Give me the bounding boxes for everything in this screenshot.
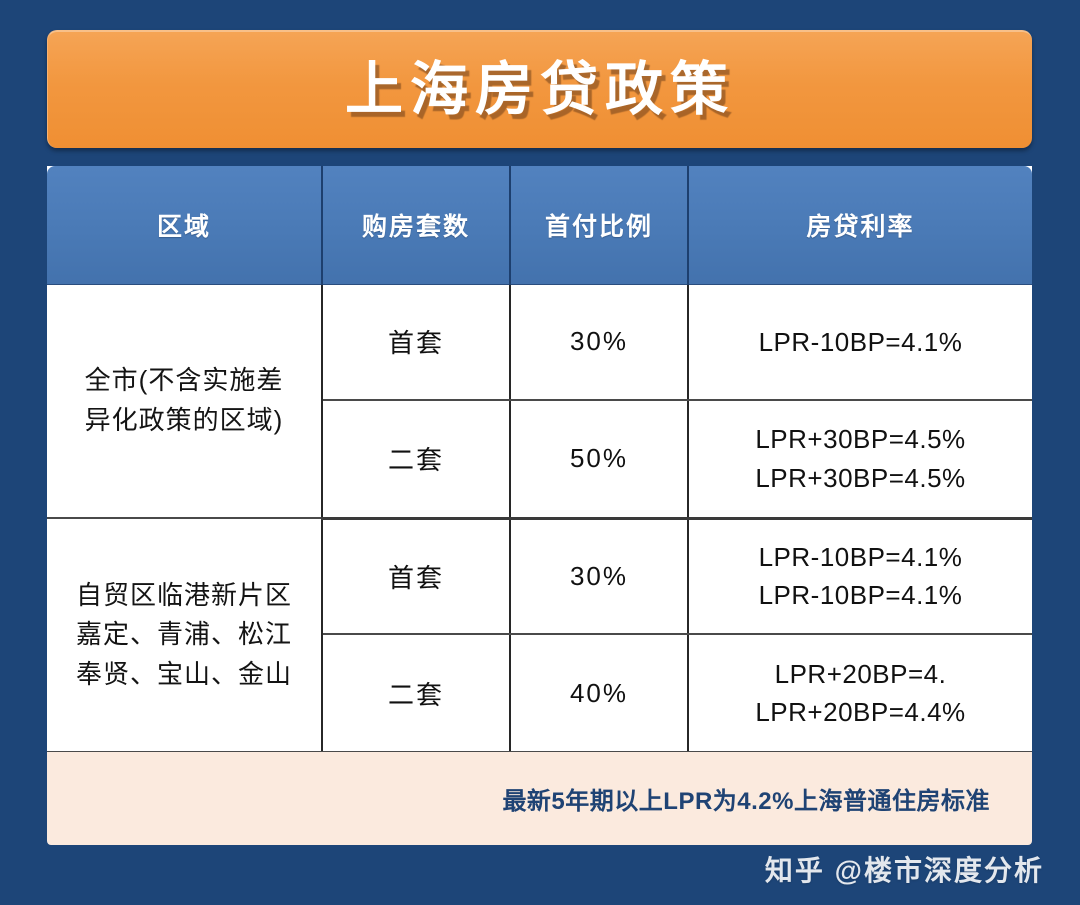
footer-note-text: 最新5年期以上LPR为4.2%上海普通住房标准 bbox=[502, 781, 990, 816]
rate-line: LPR-10BP=4.1% bbox=[695, 323, 1026, 361]
rate-line: LPR+20BP=4.4% bbox=[695, 693, 1026, 731]
count-cell: 首套 bbox=[322, 518, 510, 634]
policy-table-container: 区域 购房套数 首付比例 房贷利率 全市(不含实施差 异化政策的区域) 首套 3… bbox=[47, 166, 1032, 753]
policy-table: 区域 购房套数 首付比例 房贷利率 全市(不含实施差 异化政策的区域) 首套 3… bbox=[47, 166, 1032, 753]
rate-line: LPR+20BP=4. bbox=[695, 655, 1026, 693]
column-header-count: 购房套数 bbox=[322, 166, 510, 284]
rate-line: LPR-10BP=4.1% bbox=[695, 576, 1026, 614]
count-cell: 二套 bbox=[322, 400, 510, 518]
region-line: 奉贤、宝山、金山 bbox=[53, 655, 315, 695]
region-cell-group-2: 自贸区临港新片区 嘉定、青浦、松江 奉贤、宝山、金山 bbox=[47, 518, 322, 752]
rate-line: LPR-10BP=4.1% bbox=[695, 538, 1026, 576]
count-cell: 二套 bbox=[322, 634, 510, 752]
page-title: 上海房贷政策 bbox=[345, 61, 735, 119]
region-line: 嘉定、青浦、松江 bbox=[53, 615, 315, 655]
watermark: 知乎 @楼市深度分析 bbox=[765, 849, 1044, 889]
region-line: 自贸区临港新片区 bbox=[53, 576, 315, 616]
rate-cell: LPR+20BP=4. LPR+20BP=4.4% bbox=[688, 634, 1032, 752]
table-row: 自贸区临港新片区 嘉定、青浦、松江 奉贤、宝山、金山 首套 30% LPR-10… bbox=[47, 518, 1032, 634]
down-payment-cell: 30% bbox=[510, 518, 688, 634]
region-cell-group-1: 全市(不含实施差 异化政策的区域) bbox=[47, 284, 322, 518]
rate-cell: LPR-10BP=4.1% LPR-10BP=4.1% bbox=[688, 518, 1032, 634]
footer-note-band: 最新5年期以上LPR为4.2%上海普通住房标准 bbox=[47, 752, 1032, 845]
down-payment-cell: 40% bbox=[510, 634, 688, 752]
column-header-region: 区域 bbox=[47, 166, 322, 284]
rate-line: LPR+30BP=4.5% bbox=[695, 459, 1026, 497]
table-body: 全市(不含实施差 异化政策的区域) 首套 30% LPR-10BP=4.1% 二… bbox=[47, 284, 1032, 752]
rate-cell: LPR-10BP=4.1% bbox=[688, 284, 1032, 400]
column-header-down-payment: 首付比例 bbox=[510, 166, 688, 284]
down-payment-cell: 30% bbox=[510, 284, 688, 400]
region-line: 全市(不含实施差 bbox=[53, 361, 315, 401]
title-banner: 上海房贷政策 bbox=[47, 30, 1032, 148]
rate-cell: LPR+30BP=4.5% LPR+30BP=4.5% bbox=[688, 400, 1032, 518]
region-line: 异化政策的区域) bbox=[53, 401, 315, 441]
table-header-row: 区域 购房套数 首付比例 房贷利率 bbox=[47, 166, 1032, 284]
count-cell: 首套 bbox=[322, 284, 510, 400]
down-payment-cell: 50% bbox=[510, 400, 688, 518]
poster-root: 上海房贷政策 区域 购房套数 首付比例 房贷利率 全市(不含实施差 bbox=[0, 0, 1080, 905]
table-row: 全市(不含实施差 异化政策的区域) 首套 30% LPR-10BP=4.1% bbox=[47, 284, 1032, 400]
column-header-rate: 房贷利率 bbox=[688, 166, 1032, 284]
table-header: 区域 购房套数 首付比例 房贷利率 bbox=[47, 166, 1032, 284]
rate-line: LPR+30BP=4.5% bbox=[695, 420, 1026, 458]
